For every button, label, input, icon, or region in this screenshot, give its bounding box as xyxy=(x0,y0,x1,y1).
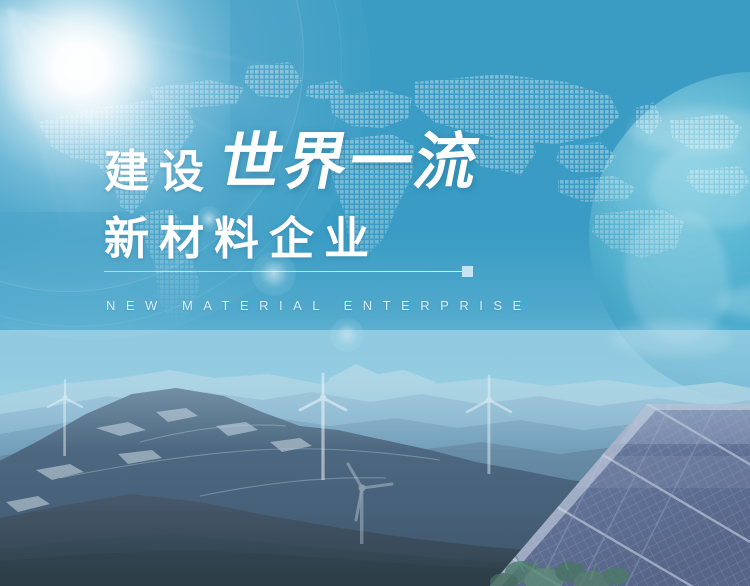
tagline-english: NEW MATERIAL ENTERPRISE xyxy=(106,298,532,313)
headline-line-1: 建设 世界一流 xyxy=(104,132,480,194)
headline-divider xyxy=(104,271,462,272)
headline-emphasis: 世界一流 xyxy=(214,132,486,194)
solar-panel-array xyxy=(450,396,750,586)
headline-line-2: 新材料企业 xyxy=(104,216,379,261)
wind-turbine xyxy=(42,378,88,456)
headline-divider-endpoint xyxy=(462,266,473,277)
wind-turbine xyxy=(326,458,398,544)
corporate-hero-banner: 建设 世界一流 新材料企业 NEW MATERIAL ENTERPRISE xyxy=(0,0,750,586)
headline-prefix: 建设 xyxy=(104,149,214,194)
